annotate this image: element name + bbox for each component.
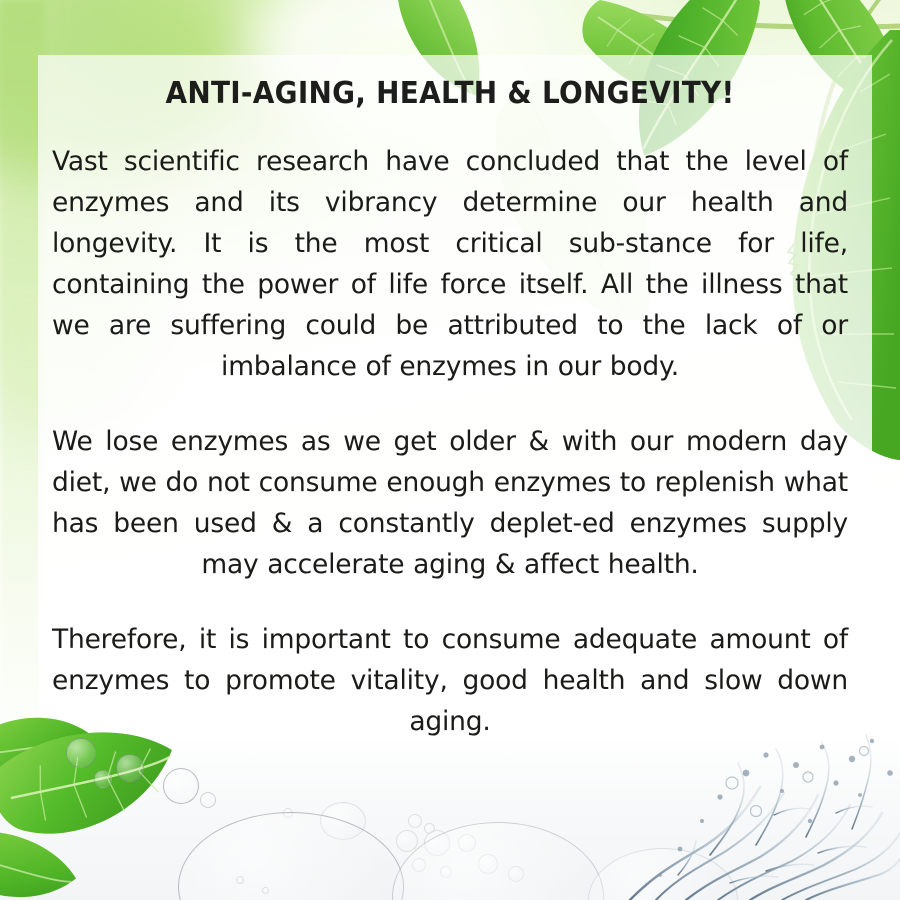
- body-paragraph-1: Vast scientific research have concluded …: [52, 141, 848, 387]
- poster-content: ANTI-AGING, HEALTH & LONGEVITY! Vast sci…: [0, 0, 900, 742]
- poster-canvas: ANTI-AGING, HEALTH & LONGEVITY! Vast sci…: [0, 0, 900, 900]
- body-paragraph-3: Therefore, it is important to consume ad…: [52, 619, 848, 742]
- page-title: ANTI-AGING, HEALTH & LONGEVITY!: [80, 76, 820, 111]
- body-paragraph-2: We lose enzymes as we get older & with o…: [52, 421, 848, 585]
